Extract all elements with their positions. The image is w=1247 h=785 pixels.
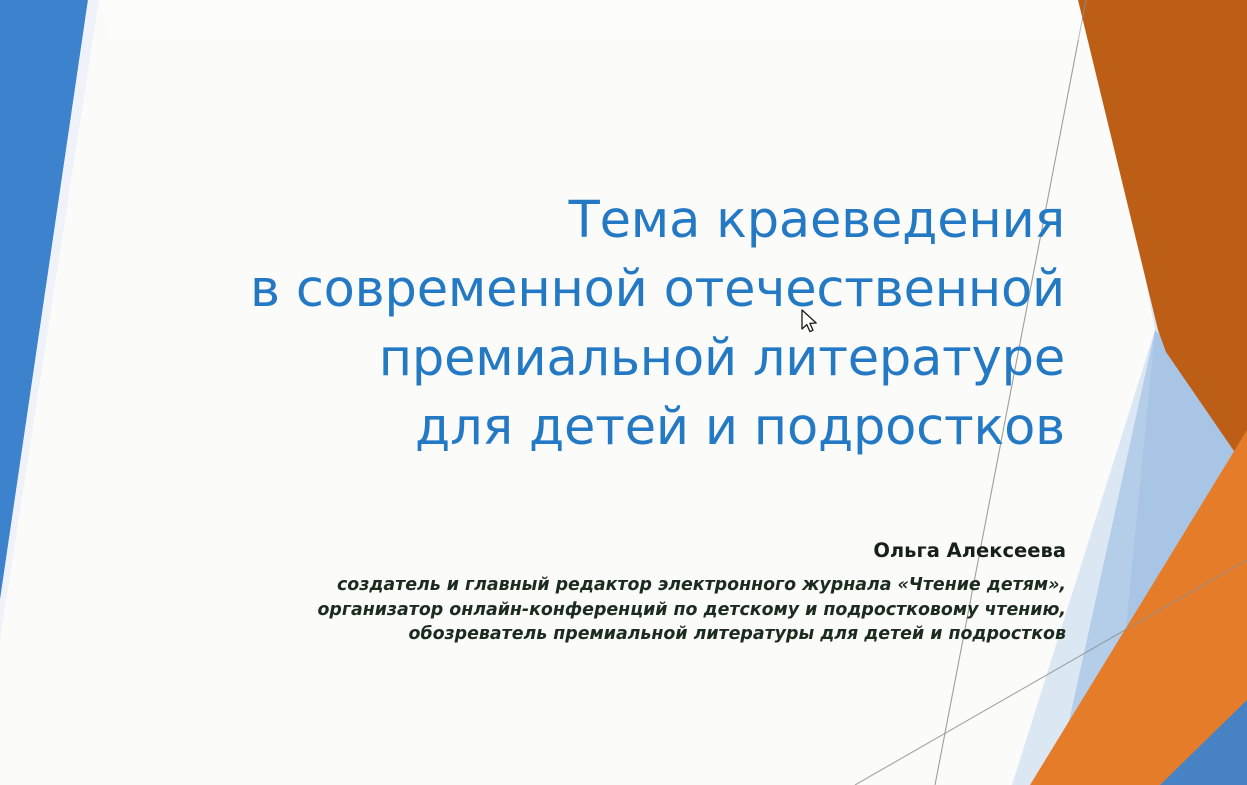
title-line-3: премиальной литературе: [160, 324, 1065, 393]
author-role-line-2: организатор онлайн-конференций по детско…: [180, 598, 1066, 623]
author-name: Ольга Алексеева: [200, 538, 1066, 564]
title-line-2: в современной отечественной: [160, 255, 1065, 324]
slide-content: Тема краеведения в современной отечестве…: [0, 0, 1247, 785]
author-role-line-3: обозреватель премиальной литературы для …: [180, 622, 1066, 647]
author-role-line-1: создатель и главный редактор электронног…: [180, 573, 1066, 598]
title-line-1: Тема краеведения: [160, 186, 1065, 255]
presentation-slide: Тема краеведения в современной отечестве…: [0, 0, 1247, 785]
title-line-4: для детей и подростков: [160, 393, 1065, 462]
author-roles: создатель и главный редактор электронног…: [180, 573, 1066, 647]
slide-title: Тема краеведения в современной отечестве…: [160, 186, 1065, 462]
